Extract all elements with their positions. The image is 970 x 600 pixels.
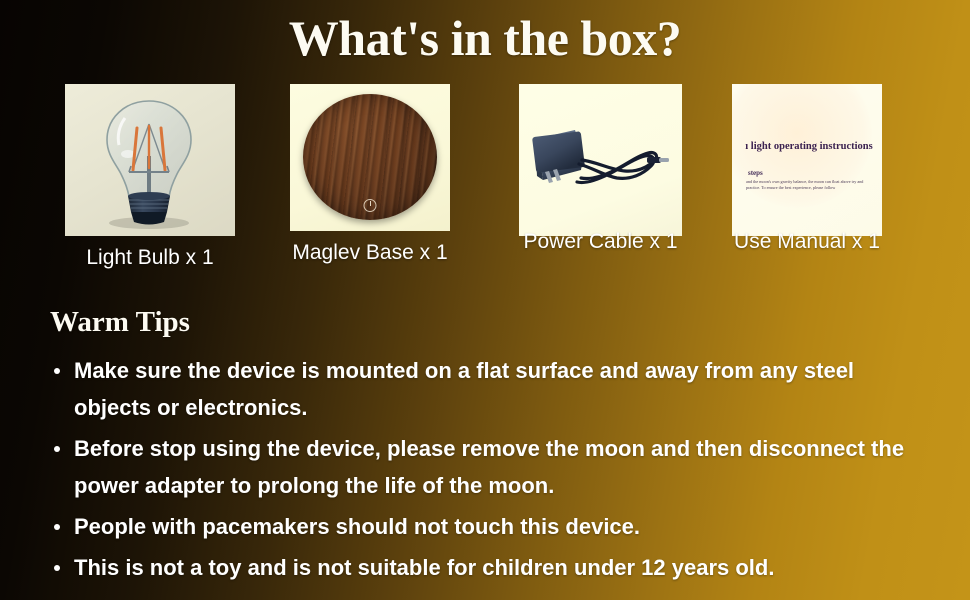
product-caption: Power Cable x 1 [523,230,677,254]
maglev-wood-disc [303,94,437,220]
product-item-use-manual: ı light operating instructions steps and… [732,84,882,236]
product-item-power-cable: Power Cable x 1 [519,84,682,236]
light-bulb-image [65,84,235,236]
tip-text: Before stop using the device, please rem… [74,436,904,498]
power-button-icon [364,199,377,212]
maglev-base-image [290,84,450,231]
bullet-icon [54,368,60,374]
product-item-light-bulb: Light Bulb x 1 [65,84,235,236]
use-manual-image: ı light operating instructions steps and… [732,84,882,236]
bullet-icon [54,565,60,571]
manual-subtitle-text: steps [748,169,763,177]
tip-text: This is not a toy and is not suitable fo… [74,555,774,580]
product-list: Light Bulb x 1 Maglev Base x 1 [0,84,970,274]
warm-tips-heading: Warm Tips [50,305,190,339]
manual-title-text: ı light operating instructions [738,141,880,152]
tip-item: Make sure the device is mounted on a fla… [46,352,929,426]
product-item-maglev-base: Maglev Base x 1 [290,84,450,231]
tip-item: People with pacemakers should not touch … [46,508,946,545]
manual-body-text: and the moon's own gravity balance, the … [746,179,870,191]
tip-text: Make sure the device is mounted on a fla… [74,358,854,420]
light-bulb-illustration [65,84,235,236]
bullet-icon [54,446,60,452]
product-caption: Light Bulb x 1 [86,246,213,270]
power-cable-image [519,84,682,236]
tip-item: Before stop using the device, please rem… [46,430,914,504]
product-caption: Use Manual x 1 [734,230,880,254]
page-title: What's in the box? [0,8,970,68]
tip-item: This is not a toy and is not suitable fo… [46,549,946,586]
product-poster: What's in the box? [0,0,970,600]
tip-text: People with pacemakers should not touch … [74,514,640,539]
product-caption: Maglev Base x 1 [292,241,447,265]
bullet-icon [54,524,60,530]
warm-tips-list: Make sure the device is mounted on a fla… [46,352,946,590]
power-adapter-illustration [519,84,682,236]
